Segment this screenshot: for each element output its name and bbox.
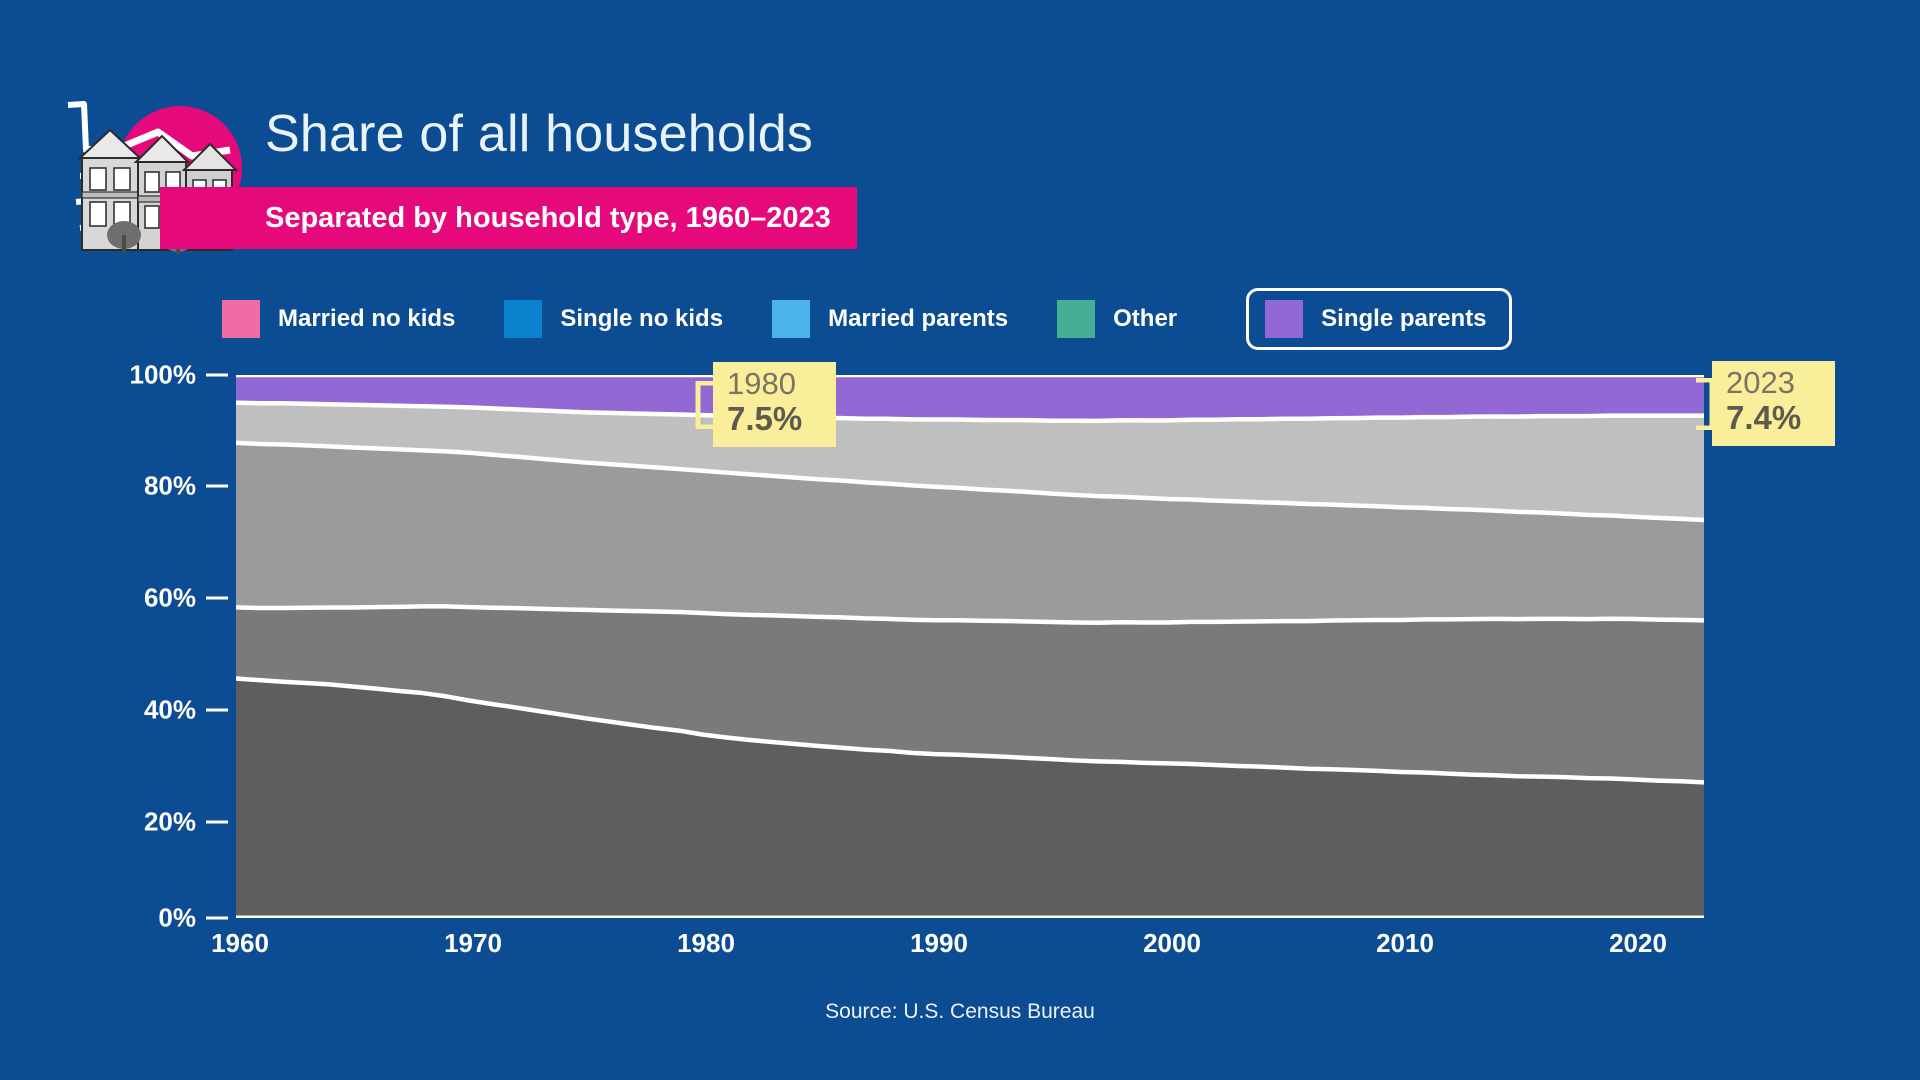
legend-label-married-parents: Married parents bbox=[828, 305, 1008, 333]
legend-item-other[interactable]: Other bbox=[1057, 300, 1177, 338]
y-tick-dash bbox=[206, 597, 228, 600]
legend-swatch-other bbox=[1057, 300, 1095, 338]
x-tick-1960: 1960 bbox=[211, 928, 269, 959]
y-tick-100: 100% bbox=[130, 360, 229, 391]
legend-swatch-married-no-kids bbox=[222, 300, 260, 338]
y-tick-60: 60% bbox=[144, 583, 228, 614]
x-tick-2010: 2010 bbox=[1376, 928, 1434, 959]
x-tick-1970: 1970 bbox=[444, 928, 502, 959]
y-axis: 100% 80% 60% 40% 20% 0% bbox=[0, 360, 228, 935]
callout-1980-value: 7.5% bbox=[727, 401, 822, 437]
chart-legend: Married no kids Single no kids Married p… bbox=[222, 288, 1512, 350]
x-axis: 1960 1970 1980 1990 2000 2010 2020 bbox=[0, 928, 1920, 974]
x-tick-1980: 1980 bbox=[677, 928, 735, 959]
page-title: Share of all households bbox=[265, 104, 813, 164]
legend-label-single-no-kids: Single no kids bbox=[560, 305, 723, 333]
legend-item-married-parents[interactable]: Married parents bbox=[772, 300, 1008, 338]
legend-swatch-married-parents bbox=[772, 300, 810, 338]
y-tick-dash bbox=[206, 709, 228, 712]
legend-label-other: Other bbox=[1113, 305, 1177, 333]
legend-swatch-single-parents bbox=[1265, 300, 1303, 338]
y-tick-20: 20% bbox=[144, 807, 228, 838]
y-tick-label: 80% bbox=[144, 471, 196, 502]
x-tick-1990: 1990 bbox=[910, 928, 968, 959]
infographic-root: Share of all households Separated by hou… bbox=[0, 0, 1920, 1080]
subtitle-band: Separated by household type, 1960–2023 bbox=[160, 187, 857, 249]
legend-item-single-parents[interactable]: Single parents bbox=[1246, 288, 1511, 350]
legend-label-married-no-kids: Married no kids bbox=[278, 305, 455, 333]
y-tick-label: 40% bbox=[144, 695, 196, 726]
x-tick-2020: 2020 bbox=[1609, 928, 1667, 959]
callout-1980-year: 1980 bbox=[727, 368, 822, 401]
callout-2023-value: 7.4% bbox=[1726, 400, 1821, 436]
y-tick-label: 60% bbox=[144, 583, 196, 614]
legend-item-single-no-kids[interactable]: Single no kids bbox=[504, 300, 723, 338]
y-tick-label: 20% bbox=[144, 807, 196, 838]
legend-item-married-no-kids[interactable]: Married no kids bbox=[222, 300, 455, 338]
y-tick-dash bbox=[206, 485, 228, 488]
callout-2023-year: 2023 bbox=[1726, 367, 1821, 400]
legend-swatch-single-no-kids bbox=[504, 300, 542, 338]
x-tick-2000: 2000 bbox=[1143, 928, 1201, 959]
y-tick-dash bbox=[206, 821, 228, 824]
y-tick-dash bbox=[206, 374, 228, 377]
y-tick-dash bbox=[206, 917, 228, 920]
stacked-area-chart bbox=[236, 375, 1704, 918]
legend-label-single-parents: Single parents bbox=[1321, 305, 1486, 333]
callout-2023: 2023 7.4% bbox=[1712, 361, 1835, 446]
source-note: Source: U.S. Census Bureau bbox=[0, 1000, 1920, 1024]
subtitle-text: Separated by household type, 1960–2023 bbox=[265, 202, 831, 235]
y-tick-40: 40% bbox=[144, 695, 228, 726]
y-tick-label: 100% bbox=[130, 360, 197, 391]
chart-svg bbox=[236, 375, 1704, 918]
y-tick-80: 80% bbox=[144, 471, 228, 502]
callout-1980: 1980 7.5% bbox=[713, 362, 836, 447]
